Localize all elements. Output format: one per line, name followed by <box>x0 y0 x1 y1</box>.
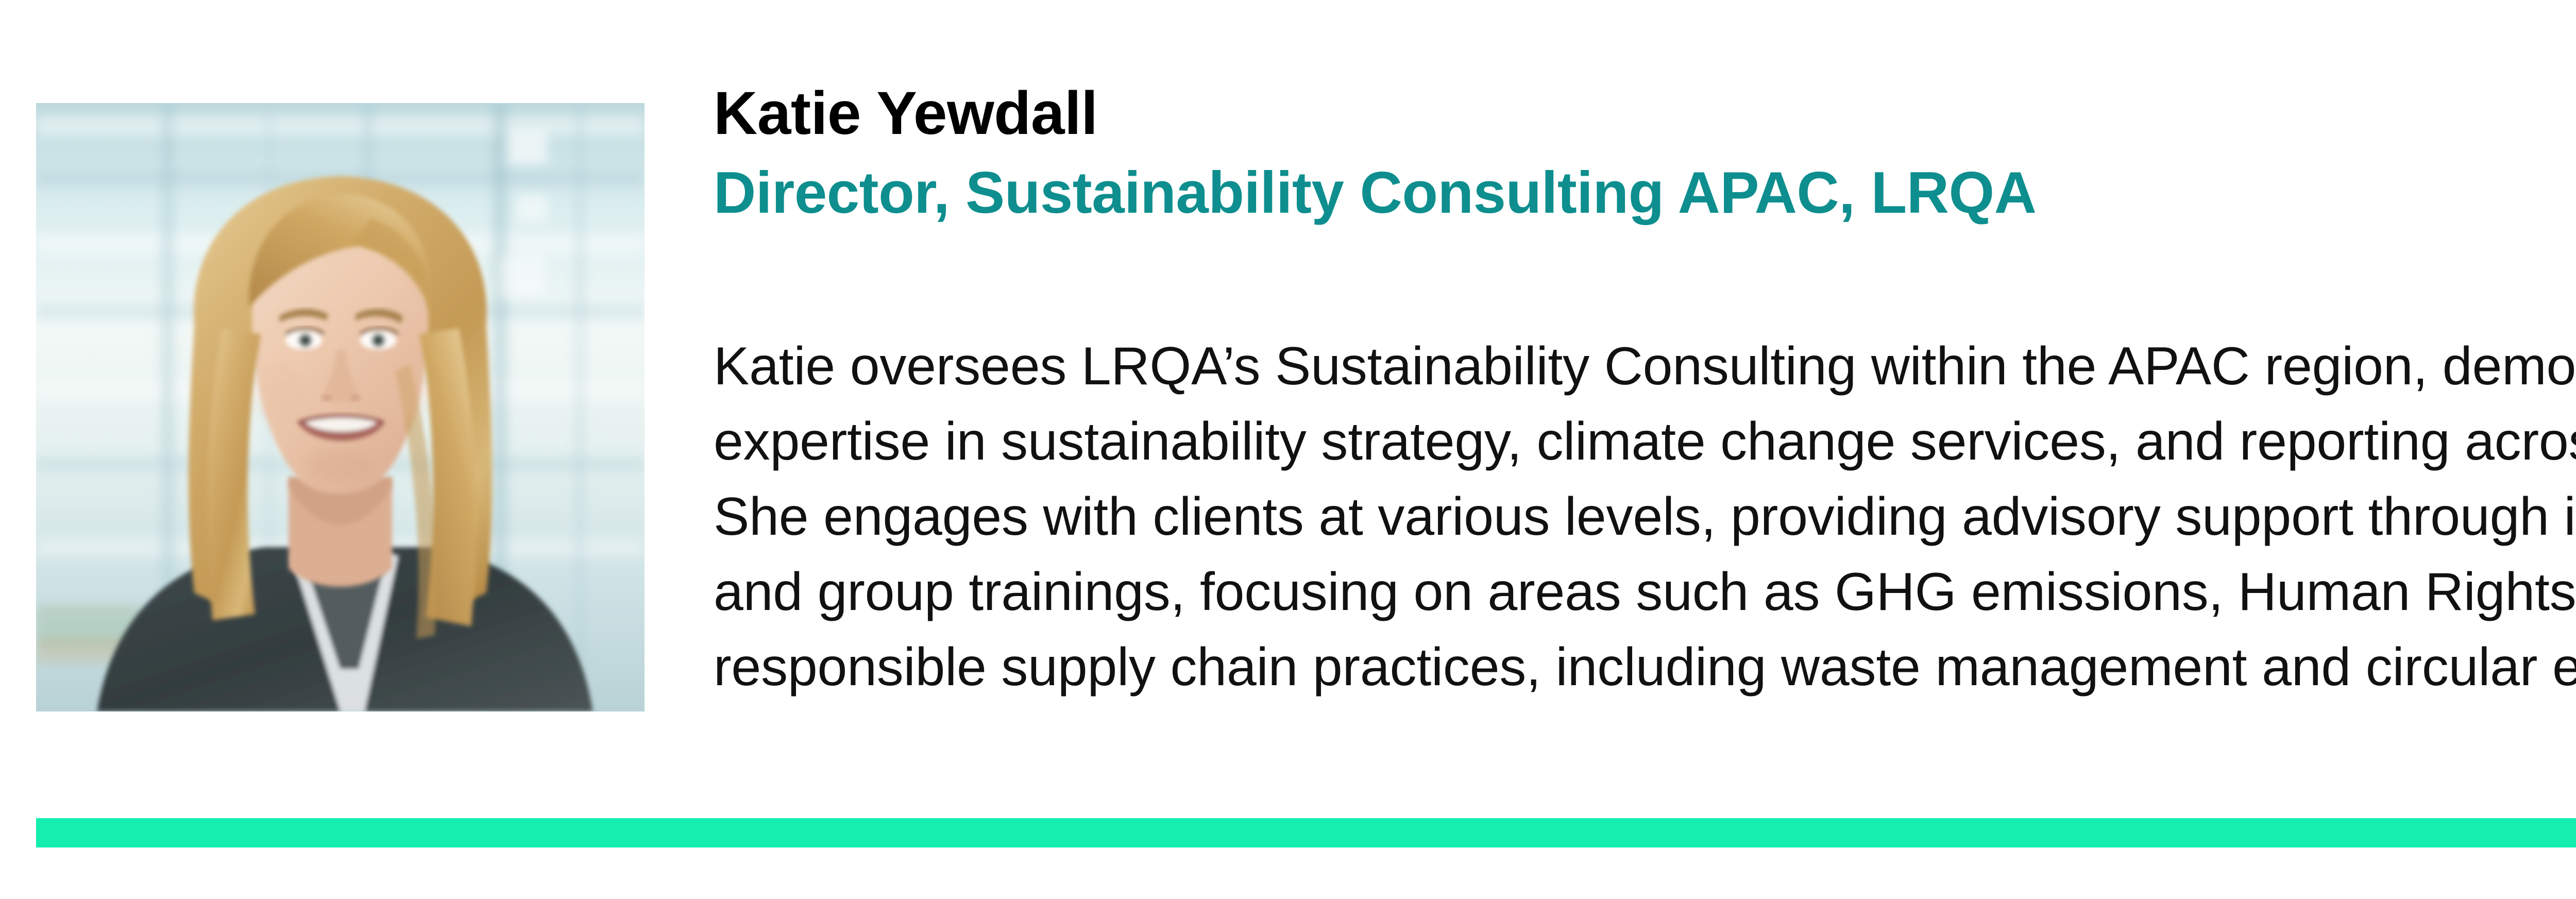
accent-divider-bar <box>36 818 2576 847</box>
portrait-photo-frame <box>36 103 645 711</box>
person-role: Director, Sustainability Consulting APAC… <box>714 161 2037 226</box>
speaker-bio-card: Katie Yewdall Director, Sustainability C… <box>0 0 2576 899</box>
bio-line: and group trainings, focusing on areas s… <box>714 554 2576 630</box>
bio-line: expertise in sustainability strategy, cl… <box>714 404 2576 479</box>
bio-text-column: Katie Yewdall Director, Sustainability C… <box>714 0 2576 899</box>
bio-line: Katie oversees LRQA’s Sustainability Con… <box>714 329 2576 404</box>
portrait-photo <box>36 103 645 711</box>
person-name: Katie Yewdall <box>714 80 1098 147</box>
bio-line: She engages with clients at various leve… <box>714 479 2576 554</box>
bio-paragraph: Katie oversees LRQA’s Sustainability Con… <box>714 329 2576 705</box>
bio-line: responsible supply chain practices, incl… <box>714 630 2576 705</box>
